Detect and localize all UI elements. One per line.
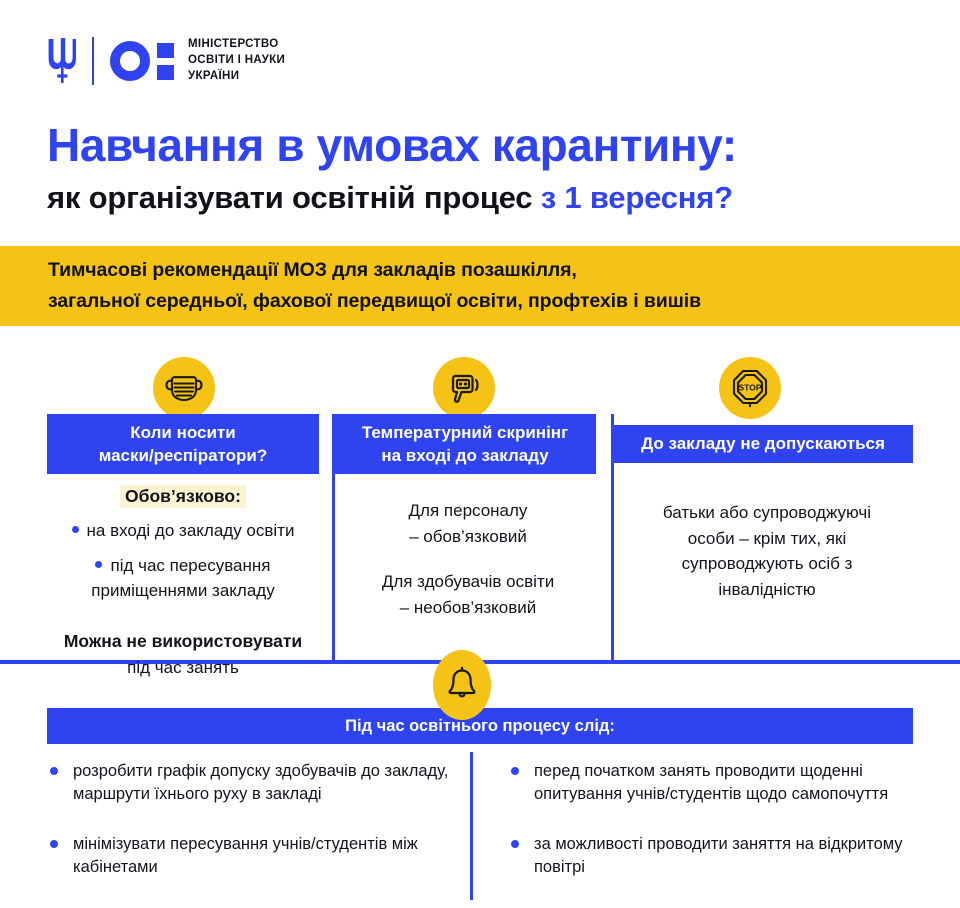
column-3-heading-text: До закладу не допускаються — [641, 432, 885, 455]
page-title: Навчання в умовах карантину: — [47, 118, 927, 172]
bell-icon — [433, 650, 491, 720]
bullet-dot-icon — [95, 561, 102, 568]
column-2-text-2: Для здобувачів освіти – необов’язковий — [340, 569, 596, 620]
bottom-section-heading: Під час освітнього процесу слід: — [47, 708, 913, 744]
list-item: за можливості проводити заняття на відкр… — [508, 833, 918, 880]
banner-line1: Тимчасові рекомендації МОЗ для закладів … — [48, 255, 960, 286]
column-1-footer-plain: під час занять — [47, 655, 319, 681]
ministry-name: Міністерство освіти і науки України — [188, 37, 285, 85]
list-item: мінімізувати пересування учнів/студентів… — [47, 833, 457, 880]
page-subtitle: як організувати освітній процес з 1 вере… — [47, 180, 937, 216]
column-2-text-1: Для персоналу – обов’язковий — [340, 498, 596, 549]
column-3-heading: До закладу не допускаються — [613, 425, 913, 463]
bottom-right-column: перед початком занять проводити щоденні … — [508, 760, 918, 906]
column-2-heading-line1: Температурний скринінг — [362, 423, 568, 442]
bullet-dot-icon — [50, 840, 58, 848]
infrared-thermometer-icon — [433, 357, 495, 419]
page-subtitle-blue: з 1 вересня? — [541, 180, 733, 215]
page-subtitle-black: як організувати освітній процес — [47, 180, 541, 215]
logo-divider — [92, 37, 94, 85]
bullet-dot-icon — [50, 767, 58, 775]
column-1-bullet-1: на вході до закладу освіти — [47, 519, 319, 544]
bullet-dot-icon — [72, 526, 79, 533]
column-1-subhead: Обов’язково: — [47, 484, 319, 509]
bullet-dot-icon — [511, 767, 519, 775]
column-1-bullet-2: під час пересування приміщеннями закладу — [47, 554, 319, 603]
face-mask-icon — [153, 357, 215, 419]
bullet-dot-icon — [511, 840, 519, 848]
column-1-heading-line2: маски/респіратори? — [99, 446, 268, 465]
svg-text:STOP: STOP — [739, 383, 762, 393]
infographic-page: Міністерство освіти і науки України Навч… — [0, 0, 960, 908]
stop-sign-icon: STOP — [719, 357, 781, 419]
ukraine-trident-icon — [48, 35, 78, 87]
column-2-heading: Температурний скринінг на вході до закла… — [334, 414, 596, 474]
ministry-logo: Міністерство освіти і науки України — [48, 33, 285, 89]
column-1-body: Обов’язково: на вході до закладу освіти … — [47, 484, 319, 680]
column-3-text: батьки або супроводжуючі особи – крім ти… — [620, 500, 914, 602]
list-item: розробити графік допуску здобувачів до з… — [47, 760, 457, 807]
column-2-body: Для персоналу – обов’язковий Для здобува… — [340, 498, 596, 620]
banner-line2: загальної середньої, фахової передвищої … — [48, 286, 960, 317]
bottom-left-column: розробити графік допуску здобувачів до з… — [47, 760, 457, 906]
column-2-heading-line2: на вході до закладу — [381, 446, 548, 465]
ministry-name-line3: України — [188, 69, 285, 85]
ministry-name-line2: освіти і науки — [188, 53, 285, 69]
column-1-heading-line1: Коли носити — [130, 423, 235, 442]
column-1-heading: Коли носити маски/респіратори? — [47, 414, 319, 474]
recommendations-banner: Тимчасові рекомендації МОЗ для закладів … — [0, 246, 960, 326]
mon-circle-bars-icon — [110, 41, 174, 81]
column-1-footer-bold: Можна не використовувати — [47, 629, 319, 654]
bottom-column-divider — [470, 752, 473, 900]
ministry-name-line1: Міністерство — [188, 37, 285, 53]
list-item: перед початком занять проводити щоденні … — [508, 760, 918, 807]
column-3-body: батьки або супроводжуючі особи – крім ти… — [620, 500, 914, 602]
